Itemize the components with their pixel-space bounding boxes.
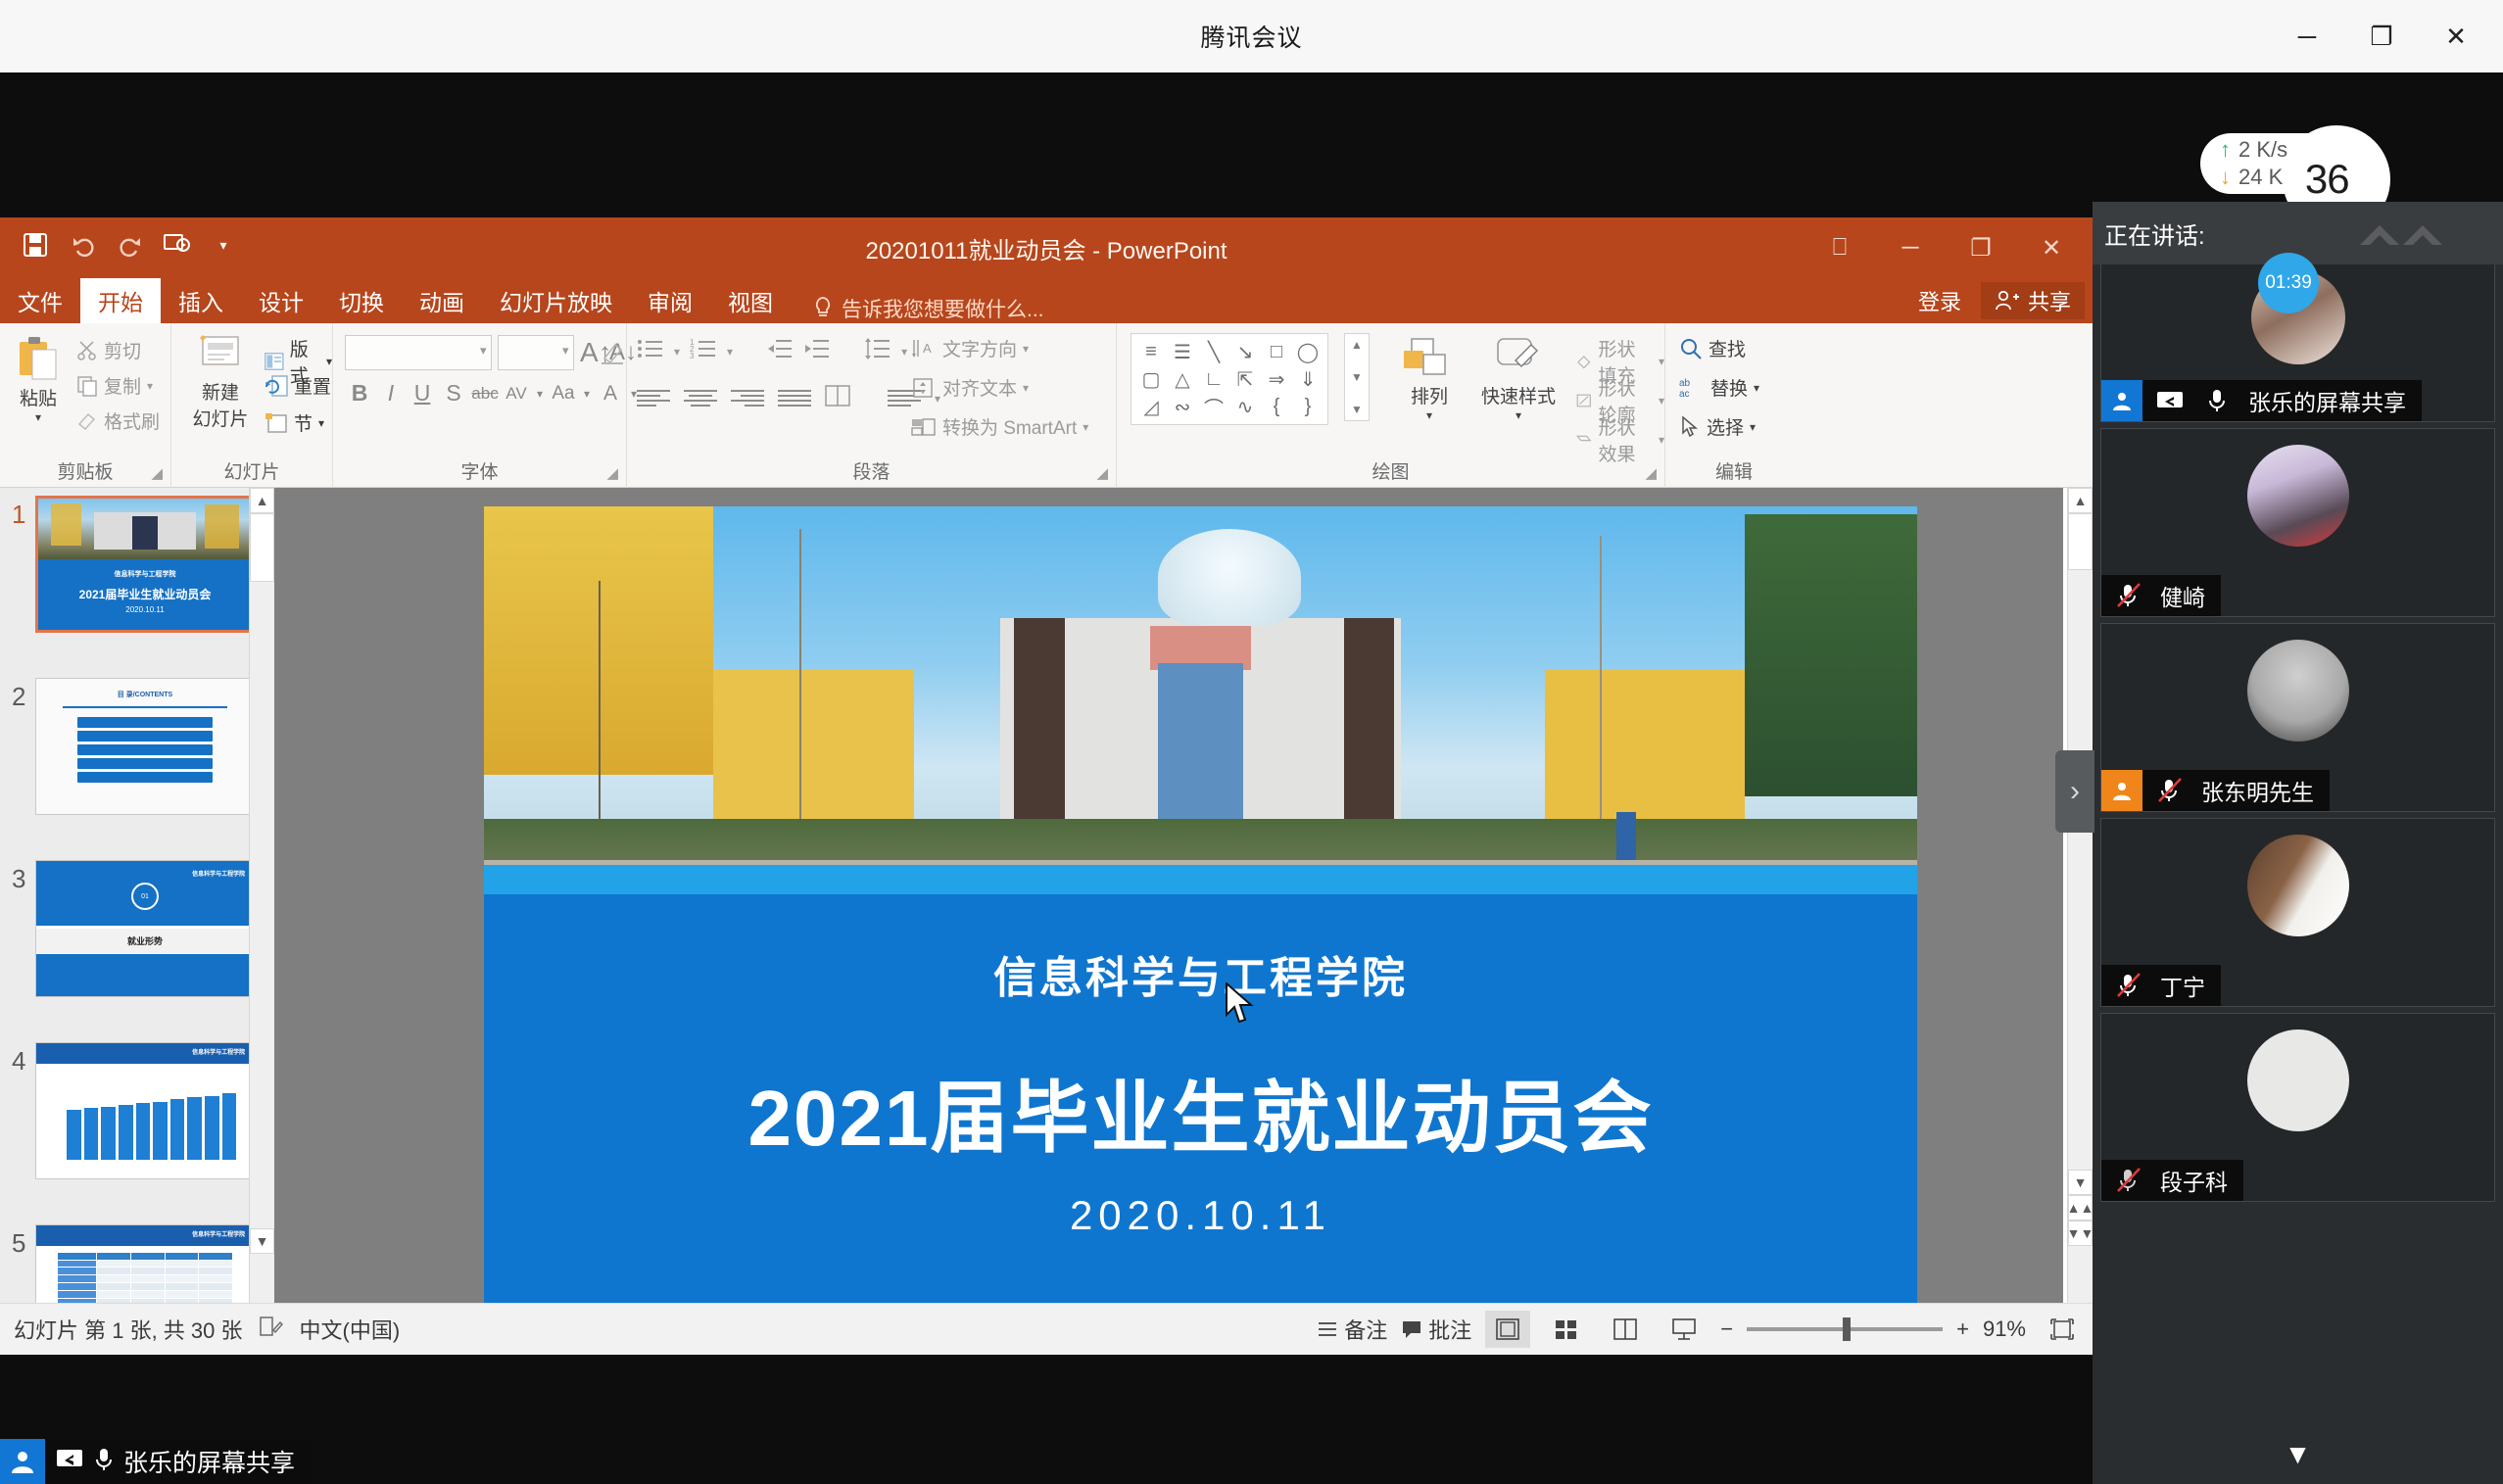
- bold-button[interactable]: B: [345, 380, 374, 407]
- chart-bar: [205, 1096, 219, 1159]
- scroll-up-icon[interactable]: ▲: [1351, 338, 1363, 352]
- find-button[interactable]: 查找: [1679, 335, 1746, 361]
- underline-button[interactable]: U: [408, 380, 437, 407]
- table-cell: [97, 1253, 130, 1260]
- table-row: [58, 1291, 232, 1298]
- ribbon-group-font: ▾ ▾ A↑ A↓ B I U S abc AV ▾ Aa ▾ A ▾ 字体: [333, 323, 627, 488]
- fit-slide-icon[interactable]: [2040, 1311, 2085, 1348]
- find-label: 查找: [1709, 335, 1746, 361]
- replace-label: 替换: [1710, 374, 1748, 401]
- scroll-up-icon[interactable]: ▲: [250, 488, 274, 513]
- left-brace-shape-icon[interactable]: {: [1261, 393, 1292, 420]
- next-slide-icon[interactable]: ▼▼: [2068, 1221, 2093, 1246]
- rectangle-shape-icon[interactable]: □: [1261, 338, 1292, 365]
- section-button[interactable]: 节 ▾: [265, 409, 324, 436]
- select-label: 选择: [1707, 413, 1744, 440]
- thumbnail-row[interactable]: 3 信息科学与工程学院 01 就业形势: [0, 860, 273, 1017]
- new-slide-label-1: 新建: [202, 378, 239, 405]
- participant-name: 张东明先生: [2201, 774, 2314, 807]
- quick-styles-label: 快速样式: [1481, 382, 1556, 408]
- chart-bar: [222, 1093, 237, 1160]
- format-painter-icon: [76, 410, 98, 432]
- microphone-icon: [2197, 388, 2237, 413]
- replace-icon: abac: [1679, 376, 1705, 400]
- thumbnail-number: 2: [12, 682, 25, 712]
- slide-sorter-icon[interactable]: [1544, 1311, 1589, 1348]
- table-cell: [199, 1253, 232, 1260]
- thumbnail-row[interactable]: 1 信息科学与工程学院 2021届毕业生就业动员会 2020.10.11: [0, 496, 273, 652]
- svg-text:A: A: [923, 341, 932, 356]
- avatar: [2247, 445, 2349, 547]
- arrange-icon: [1402, 337, 1457, 382]
- table-cell: [166, 1291, 199, 1298]
- text-direction-button[interactable]: A 文字方向 ▾: [911, 335, 1029, 361]
- table-cell: [97, 1268, 130, 1274]
- thumb-subtitle: 信息科学与工程学院: [38, 569, 252, 579]
- copy-icon: [76, 375, 98, 397]
- notes-label: 备注: [1344, 1314, 1387, 1345]
- section-icon: [265, 412, 288, 434]
- normal-view-icon[interactable]: [1485, 1311, 1530, 1348]
- table-cell: [58, 1268, 96, 1274]
- undo-icon[interactable]: [63, 225, 106, 264]
- ribbon-group-paragraph: ▾ 123 ▾ ▾ ▾ A 文字: [627, 323, 1117, 488]
- thumbnail-slide-5[interactable]: 信息科学与工程学院: [35, 1224, 255, 1303]
- table-row: [58, 1261, 232, 1268]
- thumb2-items: [36, 714, 254, 786]
- save-icon[interactable]: [14, 225, 57, 264]
- arrow-down-icon: ↓: [2220, 164, 2231, 191]
- paste-icon: [16, 335, 61, 384]
- zoom-level-label: 91%: [1983, 1316, 2026, 1342]
- tell-me-label: 告诉我您想要做什么...: [842, 294, 1044, 323]
- replace-button[interactable]: abac 替换 ▾: [1679, 374, 1759, 401]
- participant-name: 丁宁: [2160, 969, 2205, 1002]
- thumb3-badge: 01: [131, 883, 159, 910]
- tab-home[interactable]: 开始: [80, 278, 161, 323]
- align-right-icon[interactable]: [731, 386, 764, 411]
- zoom-slider-knob[interactable]: [1843, 1317, 1851, 1341]
- thumb-photo: [38, 499, 252, 559]
- share-label: 共享: [2028, 285, 2071, 316]
- align-text-label: 对齐文本: [942, 374, 1017, 401]
- align-text-icon: [911, 376, 937, 400]
- start-slideshow-icon[interactable]: [155, 225, 198, 264]
- convert-smartart-button[interactable]: 转换为 SmartArt ▾: [911, 413, 1088, 440]
- microphone-muted-icon: [2109, 1167, 2148, 1194]
- thumbnail-scrollbar[interactable]: ▲ ▼: [249, 488, 274, 1303]
- table-row: [58, 1268, 232, 1274]
- right-arrow-shape-icon[interactable]: ⇒: [1261, 365, 1292, 393]
- table-cell: [166, 1253, 199, 1260]
- thumbnail-number: 4: [12, 1046, 25, 1077]
- table-cell: [58, 1283, 96, 1290]
- tab-design[interactable]: 设计: [241, 278, 321, 323]
- dialog-launcher-icon[interactable]: ◢: [151, 464, 163, 482]
- new-slide-label-2: 幻灯片: [192, 405, 248, 431]
- increase-indent-icon[interactable]: [803, 337, 831, 365]
- text-shadow-button[interactable]: S: [439, 380, 468, 407]
- slides-group-label: 幻灯片: [171, 457, 332, 484]
- zoom-out-button[interactable]: −: [1720, 1316, 1733, 1342]
- character-spacing-button[interactable]: AV: [502, 384, 531, 404]
- thumbnail-row[interactable]: 4 信息科学与工程学院: [0, 1042, 273, 1199]
- right-brace-shape-icon[interactable]: }: [1292, 393, 1324, 420]
- smartart-icon: [911, 415, 937, 439]
- person-icon: [0, 1439, 45, 1484]
- customize-qat-icon[interactable]: ▾: [202, 225, 245, 264]
- chevron-right-icon[interactable]: ›: [2055, 750, 2094, 833]
- participants-panel: 正在讲话: 张乐的屏幕共享: [2093, 202, 2503, 1484]
- share-button[interactable]: 共享: [1981, 282, 2085, 319]
- thumbnail-number: 5: [12, 1228, 25, 1259]
- table-cell: [166, 1261, 199, 1268]
- font-format-buttons[interactable]: B I U S abc AV ▾ Aa ▾ A ▾: [345, 380, 641, 407]
- thumbnail-slide-3[interactable]: 信息科学与工程学院 01 就业形势: [35, 860, 255, 997]
- copy-button[interactable]: 复制 ▾: [76, 372, 153, 399]
- thumb-title: 2021届毕业生就业动员会: [38, 586, 252, 602]
- folded-corner-shape-icon[interactable]: ◿: [1135, 393, 1167, 420]
- align-left-icon[interactable]: [637, 386, 670, 411]
- minimize-icon[interactable]: ─: [2270, 0, 2344, 72]
- previous-slide-icon[interactable]: ▲▲: [2068, 1195, 2093, 1221]
- participant-tile[interactable]: 健崎: [2100, 428, 2495, 617]
- cursor-arrow-icon: [1679, 415, 1701, 439]
- select-button[interactable]: 选择 ▾: [1679, 413, 1756, 440]
- text-direction-label: 文字方向: [942, 335, 1017, 361]
- new-slide-button[interactable]: 新建 幻灯片: [181, 333, 260, 431]
- thumbnail-slide-2[interactable]: 目 录/CONTENTS: [35, 678, 255, 815]
- search-icon: [1679, 337, 1703, 360]
- thumbnail-row[interactable]: 5 信息科学与工程学院: [0, 1224, 273, 1303]
- reading-view-icon[interactable]: [1603, 1311, 1648, 1348]
- drawing-group-label: 绘图: [1117, 457, 1664, 484]
- arrange-button[interactable]: 排列 ▾: [1391, 337, 1468, 422]
- down-arrow-shape-icon[interactable]: ⇓: [1292, 365, 1324, 393]
- dialog-launcher-icon[interactable]: ◢: [606, 464, 618, 482]
- clear-formatting-icon[interactable]: [600, 341, 625, 371]
- chevron-down-icon[interactable]: ▼: [2093, 1439, 2503, 1470]
- mouse-cursor: [1225, 982, 1258, 1028]
- table-cell: [131, 1283, 165, 1290]
- thumbnail-slide-1[interactable]: 信息科学与工程学院 2021届毕业生就业动员会 2020.10.11: [35, 496, 255, 633]
- reset-button[interactable]: 重置: [265, 372, 331, 399]
- chart-bar: [119, 1105, 133, 1160]
- numbering-icon[interactable]: 123: [690, 337, 717, 365]
- table-cell: [199, 1283, 232, 1290]
- scroll-down-icon[interactable]: ▼: [250, 1228, 274, 1254]
- table-cell: [199, 1291, 232, 1298]
- sign-in-button[interactable]: 登录: [1906, 285, 1973, 316]
- reset-icon: [265, 375, 288, 397]
- vertical-text-shape-icon[interactable]: ☰: [1167, 338, 1198, 365]
- arrange-label: 排列: [1411, 382, 1448, 408]
- reset-label: 重置: [294, 372, 331, 399]
- person-add-icon: [1995, 288, 2020, 313]
- editing-group-label: 编辑: [1665, 457, 1803, 484]
- status-right: 备注 批注 − + 91%: [1317, 1311, 2085, 1348]
- tab-slideshow[interactable]: 幻灯片放映: [482, 278, 630, 323]
- table-cell: [199, 1268, 232, 1274]
- thumb2-title: 目 录/CONTENTS: [36, 690, 254, 699]
- shape-gallery-scroll[interactable]: ▲ ▼ ▼: [1344, 333, 1370, 421]
- avatar: [2247, 835, 2349, 936]
- font-color-button[interactable]: A: [596, 382, 625, 406]
- line-shape-icon[interactable]: ╲: [1198, 338, 1229, 365]
- text-box-shape-icon[interactable]: ≡: [1135, 338, 1167, 365]
- paste-button[interactable]: 粘贴 ▾: [8, 335, 69, 424]
- powerpoint-window-controls: ⎕ ─ ❐ ✕: [1805, 217, 2087, 278]
- new-slide-icon: [195, 333, 246, 378]
- table-cell: [166, 1275, 199, 1282]
- ribbon-group-drawing: ≡ ☰ ╲ ↘ □ ◯ ▢ △ ∟ ⇱ ⇒ ⇓ ◿ ∾ ⌒ ∿ { } ▲: [1117, 323, 1665, 488]
- thumbnail-number: 1: [12, 500, 25, 530]
- microphone-muted-icon: [2109, 972, 2148, 999]
- zoom-in-button[interactable]: +: [1956, 1316, 1969, 1342]
- table-cell: [166, 1268, 199, 1274]
- language-label[interactable]: 中文(中国): [300, 1314, 401, 1345]
- window-title: 腾讯会议: [1200, 19, 1302, 54]
- thumbnail-table: [58, 1253, 232, 1303]
- campus-building-photo: [484, 506, 1917, 879]
- powerpoint-window: 20201011就业动员会 - PowerPoint ▾ ⎕ ─ ❐ ✕ 文件 …: [0, 217, 2093, 1355]
- battery-percent: 36: [2305, 156, 2349, 203]
- maximize-icon[interactable]: ❐: [2344, 0, 2419, 72]
- microphone-icon: [94, 1446, 114, 1478]
- minimize-icon[interactable]: ─: [1875, 217, 1946, 278]
- participant-name: 健崎: [2160, 579, 2205, 612]
- thumbnail-slide-4[interactable]: 信息科学与工程学院: [35, 1042, 255, 1179]
- screen-share-icon: [55, 1447, 84, 1477]
- arc-shape-icon[interactable]: ⌒: [1198, 393, 1229, 420]
- avatar: [2247, 1029, 2349, 1131]
- slide-editing-area[interactable]: 信息科学与工程学院 2021届毕业生就业动员会 2020.10.11: [274, 488, 2063, 1303]
- screen-share-label: 张乐的屏幕共享: [123, 1444, 295, 1479]
- upload-speed: 2 K/s: [2238, 136, 2287, 164]
- tab-view[interactable]: 视图: [710, 278, 791, 323]
- comments-button[interactable]: 批注: [1401, 1314, 1471, 1345]
- table-cell: [97, 1283, 130, 1290]
- dialog-launcher-icon[interactable]: ◢: [1096, 464, 1108, 482]
- taskbar: [0, 1451, 2093, 1484]
- bullets-icon[interactable]: [637, 337, 664, 365]
- thumb5-brand: 信息科学与工程学院: [192, 1229, 245, 1238]
- redo-icon[interactable]: [108, 225, 151, 264]
- comments-label: 批注: [1428, 1314, 1471, 1345]
- tab-review[interactable]: 审阅: [630, 278, 710, 323]
- participant-name: 段子科: [2160, 1164, 2228, 1197]
- elbow-arrow-icon[interactable]: ⇱: [1229, 365, 1261, 393]
- table-cell: [97, 1275, 130, 1282]
- table-cell: [131, 1261, 165, 1268]
- scroll-down-icon[interactable]: ▼: [2068, 1170, 2093, 1195]
- scrollbar-thumb[interactable]: [250, 513, 274, 582]
- screen-share-status[interactable]: 张乐的屏幕共享: [45, 1439, 313, 1484]
- slide-scrollbar[interactable]: ▲ ▼ ▲▲ ▼▼: [2067, 488, 2093, 1303]
- thumb3-brand: 信息科学与工程学院: [192, 869, 245, 878]
- align-text-button[interactable]: 对齐文本 ▾: [911, 374, 1029, 401]
- paragraph-group-label: 段落: [627, 457, 1116, 484]
- zoom-slider[interactable]: [1747, 1327, 1943, 1331]
- strikethrough-button[interactable]: abc: [470, 384, 500, 404]
- clipboard-group-label: 剪贴板: [0, 457, 170, 484]
- meeting-window-titlebar: 腾讯会议 ─ ❐ ✕: [0, 0, 2503, 72]
- format-painter-label: 格式刷: [104, 407, 160, 434]
- lightbulb-icon: [812, 296, 834, 321]
- text-direction-icon: A: [911, 337, 937, 360]
- arrow-up-icon: ↑: [2220, 136, 2231, 164]
- scissors-icon: [76, 340, 98, 361]
- svg-text:ac: ac: [1679, 389, 1690, 400]
- chart-bar: [170, 1099, 185, 1159]
- slide-date: 2020.10.11: [484, 1192, 1917, 1239]
- participant-tile[interactable]: 段子科: [2100, 1013, 2495, 1202]
- thumbnail-row[interactable]: 2 目 录/CONTENTS: [0, 678, 273, 835]
- shape-gallery[interactable]: ≡ ☰ ╲ ↘ □ ◯ ▢ △ ∟ ⇱ ⇒ ⇓ ◿ ∾ ⌒ ∿ { }: [1131, 333, 1328, 425]
- ribbon-display-options-icon[interactable]: ⎕: [1805, 217, 1875, 278]
- account-area: 登录 共享: [1906, 278, 2085, 323]
- person-icon: [2101, 770, 2142, 811]
- chevron-down-icon[interactable]: ▾: [562, 343, 569, 359]
- participant-tag: 段子科: [2101, 1160, 2243, 1201]
- italic-button[interactable]: I: [376, 380, 406, 407]
- rounded-rect-shape-icon[interactable]: ▢: [1135, 365, 1167, 393]
- table-cell: [131, 1268, 165, 1274]
- quick-styles-button[interactable]: 快速样式 ▾: [1469, 337, 1567, 422]
- tell-me-search[interactable]: 告诉我您想要做什么...: [812, 294, 1044, 323]
- columns-icon[interactable]: [825, 384, 850, 412]
- table-cell: [97, 1291, 130, 1298]
- table-cell: [166, 1283, 199, 1290]
- list-buttons[interactable]: ▾ 123 ▾ ▾: [637, 337, 907, 365]
- tab-transitions[interactable]: 切换: [321, 278, 402, 323]
- tab-file[interactable]: 文件: [0, 278, 80, 323]
- spellcheck-icon[interactable]: [259, 1315, 284, 1344]
- thumbnail-bar-chart: [67, 1083, 236, 1159]
- ribbon-tabs[interactable]: 文件 开始 插入 设计 切换 动画 幻灯片放映 审阅 视图 告诉我您想要做什么.…: [0, 278, 2093, 323]
- participant-tag: 丁宁: [2101, 965, 2221, 1006]
- table-cell: [199, 1261, 232, 1268]
- restore-icon[interactable]: ❐: [1946, 217, 2016, 278]
- speaking-label: 正在讲话:: [2104, 216, 2205, 251]
- thumbnail-number: 3: [12, 864, 25, 894]
- participant-list[interactable]: 张乐的屏幕共享 健崎 张东明先生: [2093, 264, 2503, 1484]
- freeform-shape-icon[interactable]: ∾: [1167, 393, 1198, 420]
- close-icon[interactable]: ✕: [2016, 217, 2087, 278]
- table-cell: [58, 1275, 96, 1282]
- chevron-down-icon[interactable]: ▾: [35, 410, 41, 424]
- ribbon-group-clipboard: 粘贴 ▾ 剪切 复制 ▾ 格式刷 剪贴板 ◢: [0, 323, 171, 488]
- participant-name: 张乐的屏幕共享: [2248, 384, 2406, 417]
- participant-tile[interactable]: 张东明先生: [2100, 623, 2495, 812]
- change-case-button[interactable]: Aa: [549, 383, 578, 405]
- chart-bar: [84, 1108, 99, 1160]
- status-left: 幻灯片 第 1 张, 共 30 张 中文(中国): [0, 1314, 400, 1345]
- slide-accent-bar: [484, 865, 1917, 894]
- cut-label: 剪切: [104, 337, 141, 363]
- screen-share-status-strip: 张乐的屏幕共享: [0, 1439, 313, 1484]
- cut-button[interactable]: 剪切: [76, 337, 141, 363]
- table-cell: [131, 1253, 165, 1260]
- shape-outline-icon: [1575, 390, 1593, 411]
- dialog-launcher-icon[interactable]: ◢: [1645, 464, 1657, 482]
- curve-shape-icon[interactable]: ∿: [1229, 393, 1261, 420]
- chart-bar: [187, 1097, 202, 1159]
- chart-bar: [153, 1102, 168, 1160]
- chart-bar: [101, 1107, 116, 1160]
- copy-label: 复制: [104, 372, 141, 399]
- align-buttons[interactable]: ▾: [637, 384, 940, 412]
- justify-icon[interactable]: [778, 386, 811, 411]
- table-cell: [58, 1291, 96, 1298]
- participant-tag: 张东明先生: [2101, 770, 2330, 811]
- slide-title: 2021届毕业生就业动员会: [484, 1055, 1917, 1169]
- convert-smartart-label: 转换为 SmartArt: [942, 413, 1077, 440]
- shape-effects-icon: [1575, 429, 1593, 451]
- comment-icon: [1401, 1318, 1422, 1340]
- shape-gallery-more-icon[interactable]: ▼: [1351, 403, 1363, 416]
- slide-thumbnail-pane[interactable]: 1 信息科学与工程学院 2021届毕业生就业动员会 2020.10.11 2: [0, 488, 274, 1303]
- format-painter-button[interactable]: 格式刷: [76, 407, 160, 434]
- svg-text:3: 3: [690, 352, 695, 360]
- table-cell: [58, 1261, 96, 1268]
- layout-icon: [265, 351, 284, 372]
- powerpoint-titlebar: 20201011就业动员会 - PowerPoint: [0, 217, 2093, 278]
- table-cell: [58, 1253, 96, 1260]
- current-slide[interactable]: 信息科学与工程学院 2021届毕业生就业动员会 2020.10.11: [484, 506, 1917, 1334]
- table-cell: [131, 1275, 165, 1282]
- line-spacing-icon[interactable]: [864, 337, 891, 365]
- notes-icon: [1317, 1318, 1338, 1340]
- ribbon: 粘贴 ▾ 剪切 复制 ▾ 格式刷 剪贴板 ◢ 新建: [0, 323, 2093, 488]
- tencent-meeting-logo: [2358, 215, 2485, 259]
- scroll-down-icon[interactable]: ▼: [1351, 370, 1363, 384]
- person-icon: [2101, 380, 2142, 421]
- scrollbar-thumb[interactable]: [2068, 513, 2093, 570]
- decrease-indent-icon[interactable]: [766, 337, 794, 365]
- table-row: [58, 1283, 232, 1290]
- table-cell: [131, 1291, 165, 1298]
- status-bar: 幻灯片 第 1 张, 共 30 张 中文(中国) 备注 批注: [0, 1303, 2093, 1355]
- slideshow-icon[interactable]: [1661, 1311, 1707, 1348]
- arrow-shape-icon[interactable]: ↘: [1229, 338, 1261, 365]
- table-cell: [97, 1261, 130, 1268]
- participant-tile[interactable]: 丁宁: [2100, 818, 2495, 1007]
- thumb3-title: 就业形势: [36, 929, 254, 953]
- table-row: [58, 1253, 232, 1260]
- scroll-up-icon[interactable]: ▲: [2068, 488, 2093, 513]
- ribbon-group-slides: 新建 幻灯片 版式 ▾ 重置 节 ▾ 幻灯片: [171, 323, 333, 488]
- microphone-muted-icon: [2150, 777, 2190, 804]
- close-icon[interactable]: ✕: [2419, 0, 2493, 72]
- thumb-date: 2020.10.11: [38, 605, 252, 614]
- align-center-icon[interactable]: [684, 386, 717, 411]
- section-label: 节: [294, 409, 313, 436]
- participant-tag: 张乐的屏幕共享: [2101, 380, 2422, 421]
- svg-text:ab: ab: [1679, 378, 1691, 389]
- tab-animations[interactable]: 动画: [402, 278, 482, 323]
- chevron-down-icon[interactable]: ▾: [480, 343, 487, 359]
- shape-fill-icon: [1575, 351, 1593, 372]
- oval-shape-icon[interactable]: ◯: [1292, 338, 1324, 365]
- participant-tag: 健崎: [2101, 575, 2221, 616]
- microphone-muted-icon: [2109, 582, 2148, 609]
- triangle-shape-icon[interactable]: △: [1167, 365, 1198, 393]
- tab-insert[interactable]: 插入: [161, 278, 241, 323]
- font-name-input[interactable]: [345, 335, 492, 370]
- notes-button[interactable]: 备注: [1317, 1314, 1387, 1345]
- elbow-connector-icon[interactable]: ∟: [1198, 365, 1229, 393]
